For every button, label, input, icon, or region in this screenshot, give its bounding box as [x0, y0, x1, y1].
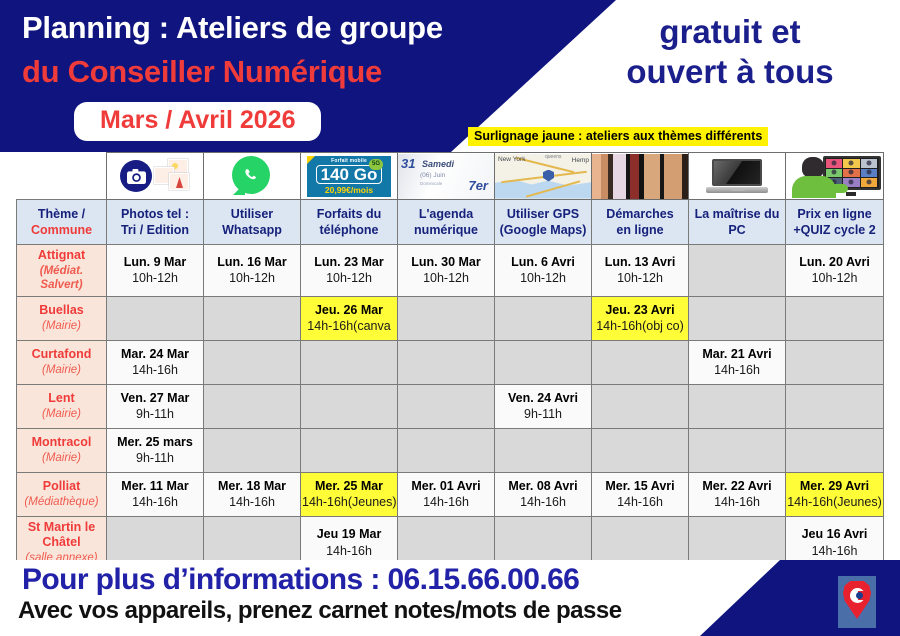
column-header-line-2: numérique: [414, 223, 478, 237]
session-cell-empty: [301, 428, 398, 472]
session-cell-empty: [786, 340, 884, 384]
column-header-line-1: Utiliser: [231, 207, 273, 221]
table-row: Buellas (Mairie) Jeu. 26 Mar14h-16h(canv…: [17, 296, 884, 340]
session-cell-empty: [398, 384, 495, 428]
column-header-forfaits[interactable]: Forfaits du téléphone: [301, 200, 398, 245]
google-maps-icon: New York Hemp queens: [495, 153, 592, 200]
session-cell[interactable]: Lun. 30 Mar10h-12h: [398, 245, 495, 297]
commune-place: (Mairie): [19, 451, 104, 465]
column-header-line-1: Prix en ligne: [797, 207, 871, 221]
books-shelf-icon: [592, 153, 689, 200]
row-label-lent: Lent (Mairie): [17, 384, 107, 428]
camera-photos-icon: [107, 153, 204, 200]
laptop-icon: [689, 153, 786, 200]
column-header-maitrise-pc[interactable]: La maîtrise du PC: [689, 200, 786, 245]
session-cell-empty: [592, 428, 689, 472]
session-cell[interactable]: Lun. 16 Mar10h-12h: [204, 245, 301, 297]
session-cell-empty: [398, 340, 495, 384]
session-cell[interactable]: Mer. 15 Avri14h-16h: [592, 472, 689, 516]
session-cell[interactable]: Mer. 11 Mar14h-16h: [107, 472, 204, 516]
column-header-line-1: Démarches: [606, 207, 673, 221]
letter-c-dot: [856, 592, 863, 599]
session-cell-highlighted[interactable]: Jeu. 23 Avri14h-16h(obj co): [592, 296, 689, 340]
corner-header-line-2: Commune: [18, 222, 105, 238]
agenda-note: Dominicale: [420, 181, 442, 186]
column-header-line-1: Photos tel :: [121, 207, 189, 221]
column-header-line-1: La maîtrise du: [695, 207, 780, 221]
commune-name: Attignat: [38, 248, 85, 262]
commune-name: St Martin le Châtel: [28, 520, 95, 550]
banner-tagline-line-1: gratuit et: [560, 12, 900, 52]
commune-name: Polliat: [43, 479, 81, 493]
table-row: Curtafond (Mairie) Mar. 24 Mar14h-16h Ma…: [17, 340, 884, 384]
session-cell-empty: [786, 428, 884, 472]
session-cell[interactable]: Mer. 08 Avri14h-16h: [495, 472, 592, 516]
session-cell-empty: [592, 384, 689, 428]
session-cell-empty: [398, 428, 495, 472]
banner-tagline: gratuit et ouvert à tous: [560, 12, 900, 93]
session-cell-empty: [204, 384, 301, 428]
session-cell-empty: [592, 340, 689, 384]
row-label-curtafond: Curtafond (Mairie): [17, 340, 107, 384]
planning-table: Forfait mobile 5G 140 Go 20,99€/mois 31 …: [16, 152, 884, 570]
footer-banner: Pour plus d’informations : 06.15.66.00.6…: [0, 560, 900, 636]
planning-table-container: Forfait mobile 5G 140 Go 20,99€/mois 31 …: [16, 152, 884, 570]
agenda-month: (06) Juin: [420, 172, 445, 179]
column-header-line-1: Forfaits du: [317, 207, 382, 221]
page-title-line-1: Planning : Ateliers de groupe: [22, 10, 443, 46]
session-cell[interactable]: Ven. 24 Avri9h-11h: [495, 384, 592, 428]
session-cell-empty: [301, 340, 398, 384]
row-label-montracol: Montracol (Mairie): [17, 428, 107, 472]
commune-name: Buellas: [39, 303, 83, 317]
session-cell[interactable]: Lun. 13 Avri10h-12h: [592, 245, 689, 297]
video-quiz-icon: [786, 153, 884, 200]
table-header-row: Thème / Commune Photos tel : Tri / Editi…: [17, 200, 884, 245]
column-header-agenda[interactable]: L'agenda numérique: [398, 200, 495, 245]
session-cell-empty: [689, 245, 786, 297]
session-cell[interactable]: Mar. 21 Avri14h-16h: [689, 340, 786, 384]
column-header-line-2: téléphone: [319, 223, 378, 237]
session-cell-empty: [204, 296, 301, 340]
map-label-queens: queens: [545, 154, 561, 160]
commune-place: (Mairie): [19, 363, 104, 377]
session-cell-empty: [495, 428, 592, 472]
top-banner: Planning : Ateliers de groupe du Conseil…: [0, 0, 900, 152]
session-cell[interactable]: Lun. 9 Mar10h-12h: [107, 245, 204, 297]
banner-tagline-line-2: ouvert à tous: [560, 52, 900, 92]
legend-yellow-highlight-note: Surlignage jaune : ateliers aux thèmes d…: [468, 127, 768, 146]
row-label-buellas: Buellas (Mairie): [17, 296, 107, 340]
session-cell-empty: [204, 428, 301, 472]
session-cell[interactable]: Mer. 01 Avri14h-16h: [398, 472, 495, 516]
column-header-line-2: +QUIZ cycle 2: [793, 223, 875, 237]
column-header-gps[interactable]: Utiliser GPS (Google Maps): [495, 200, 592, 245]
date-range-label: Mars / Avril 2026: [100, 106, 295, 134]
session-cell[interactable]: Lun. 23 Mar10h-12h: [301, 245, 398, 297]
session-cell-empty: [495, 296, 592, 340]
session-cell-empty: [786, 384, 884, 428]
row-label-polliat: Polliat (Médiathèque): [17, 472, 107, 516]
session-cell-empty: [398, 296, 495, 340]
mobile-plan-price: 20,99€/mois: [325, 185, 373, 195]
agenda-corner-label: 7er: [468, 178, 488, 193]
page-title-line-2: du Conseiller Numérique: [22, 54, 382, 90]
column-header-line-2: Whatsapp: [222, 223, 282, 237]
table-row: Montracol (Mairie) Mer. 25 mars9h-11h: [17, 428, 884, 472]
table-row: Polliat (Médiathèque) Mer. 11 Mar14h-16h…: [17, 472, 884, 516]
whatsapp-icon: [204, 153, 301, 200]
row-label-attignat: Attignat (Médiat. Salvert): [17, 245, 107, 297]
commune-place: (Médiathèque): [19, 495, 104, 509]
commune-place: (Mairie): [19, 407, 104, 421]
column-header-line-2: (Google Maps): [500, 223, 587, 237]
mobile-plan-5g-badge: 5G: [369, 159, 383, 170]
agenda-day-name: Samedi: [422, 159, 454, 169]
column-header-photos[interactable]: Photos tel : Tri / Edition: [107, 200, 204, 245]
column-header-line-1: Utiliser GPS: [507, 207, 579, 221]
session-cell[interactable]: Lun. 6 Avri10h-12h: [495, 245, 592, 297]
map-label-new-york: New York: [498, 156, 525, 163]
icon-row-corner-spacer: [17, 153, 107, 200]
session-cell-empty: [689, 296, 786, 340]
session-cell[interactable]: Ven. 27 Mar9h-11h: [107, 384, 204, 428]
column-header-demarches[interactable]: Démarches en ligne: [592, 200, 689, 245]
commune-name: Montracol: [32, 435, 92, 449]
map-label-hemp: Hemp: [572, 157, 589, 164]
session-cell-empty: [107, 296, 204, 340]
session-cell-empty: [495, 340, 592, 384]
agenda-calendar-icon: 31 Samedi (06) Juin Dominicale 7er: [398, 153, 495, 200]
session-cell-highlighted[interactable]: Jeu. 26 Mar14h-16h(canva: [301, 296, 398, 340]
column-header-whatsapp[interactable]: Utiliser Whatsapp: [204, 200, 301, 245]
column-header-line-1: L'agenda: [419, 207, 473, 221]
mobile-plan-top-label: Forfait mobile: [331, 158, 367, 164]
session-cell[interactable]: Lun. 20 Avri10h-12h: [786, 245, 884, 297]
session-cell-empty: [204, 340, 301, 384]
session-cell[interactable]: Mer. 25 mars9h-11h: [107, 428, 204, 472]
session-cell-empty: [689, 384, 786, 428]
mobile-plan-icon: Forfait mobile 5G 140 Go 20,99€/mois: [301, 153, 398, 200]
commune-name: Lent: [48, 391, 74, 405]
column-header-line-2: PC: [728, 223, 745, 237]
session-cell[interactable]: Mar. 24 Mar14h-16h: [107, 340, 204, 384]
commune-place: (Médiat. Salvert): [19, 264, 104, 293]
table-row: Attignat (Médiat. Salvert) Lun. 9 Mar10h…: [17, 245, 884, 297]
commune-place: (Mairie): [19, 319, 104, 333]
session-cell[interactable]: Mer. 22 Avri14h-16h: [689, 472, 786, 516]
table-icon-row: Forfait mobile 5G 140 Go 20,99€/mois 31 …: [17, 153, 884, 200]
session-cell[interactable]: Mer. 18 Mar14h-16h: [204, 472, 301, 516]
agenda-day-number: 31: [401, 156, 415, 171]
date-range-pill: Mars / Avril 2026: [74, 102, 321, 141]
column-header-prix-en-ligne[interactable]: Prix en ligne +QUIZ cycle 2: [786, 200, 884, 245]
footer-advice-line: Avec vos appareils, prenez carnet notes/…: [18, 597, 622, 625]
column-header-line-2: Tri / Edition: [121, 223, 189, 237]
session-cell-empty: [689, 428, 786, 472]
footer-contact-line: Pour plus d’informations : 06.15.66.00.6…: [22, 563, 579, 597]
corner-header-line-1: Thème /: [38, 207, 85, 221]
session-cell-highlighted[interactable]: Mer. 29 Avri14h-16h(Jeunes): [786, 472, 884, 516]
conseiller-numerique-pin-logo: [838, 576, 876, 628]
column-header-line-2: en ligne: [616, 223, 663, 237]
session-cell-empty: [301, 384, 398, 428]
table-row: Lent (Mairie) Ven. 27 Mar9h-11h Ven. 24 …: [17, 384, 884, 428]
session-cell-empty: [786, 296, 884, 340]
session-cell-highlighted[interactable]: Mer. 25 Mar14h-16h(Jeunes): [301, 472, 398, 516]
table-corner-header: Thème / Commune: [17, 200, 107, 245]
commune-name: Curtafond: [32, 347, 92, 361]
